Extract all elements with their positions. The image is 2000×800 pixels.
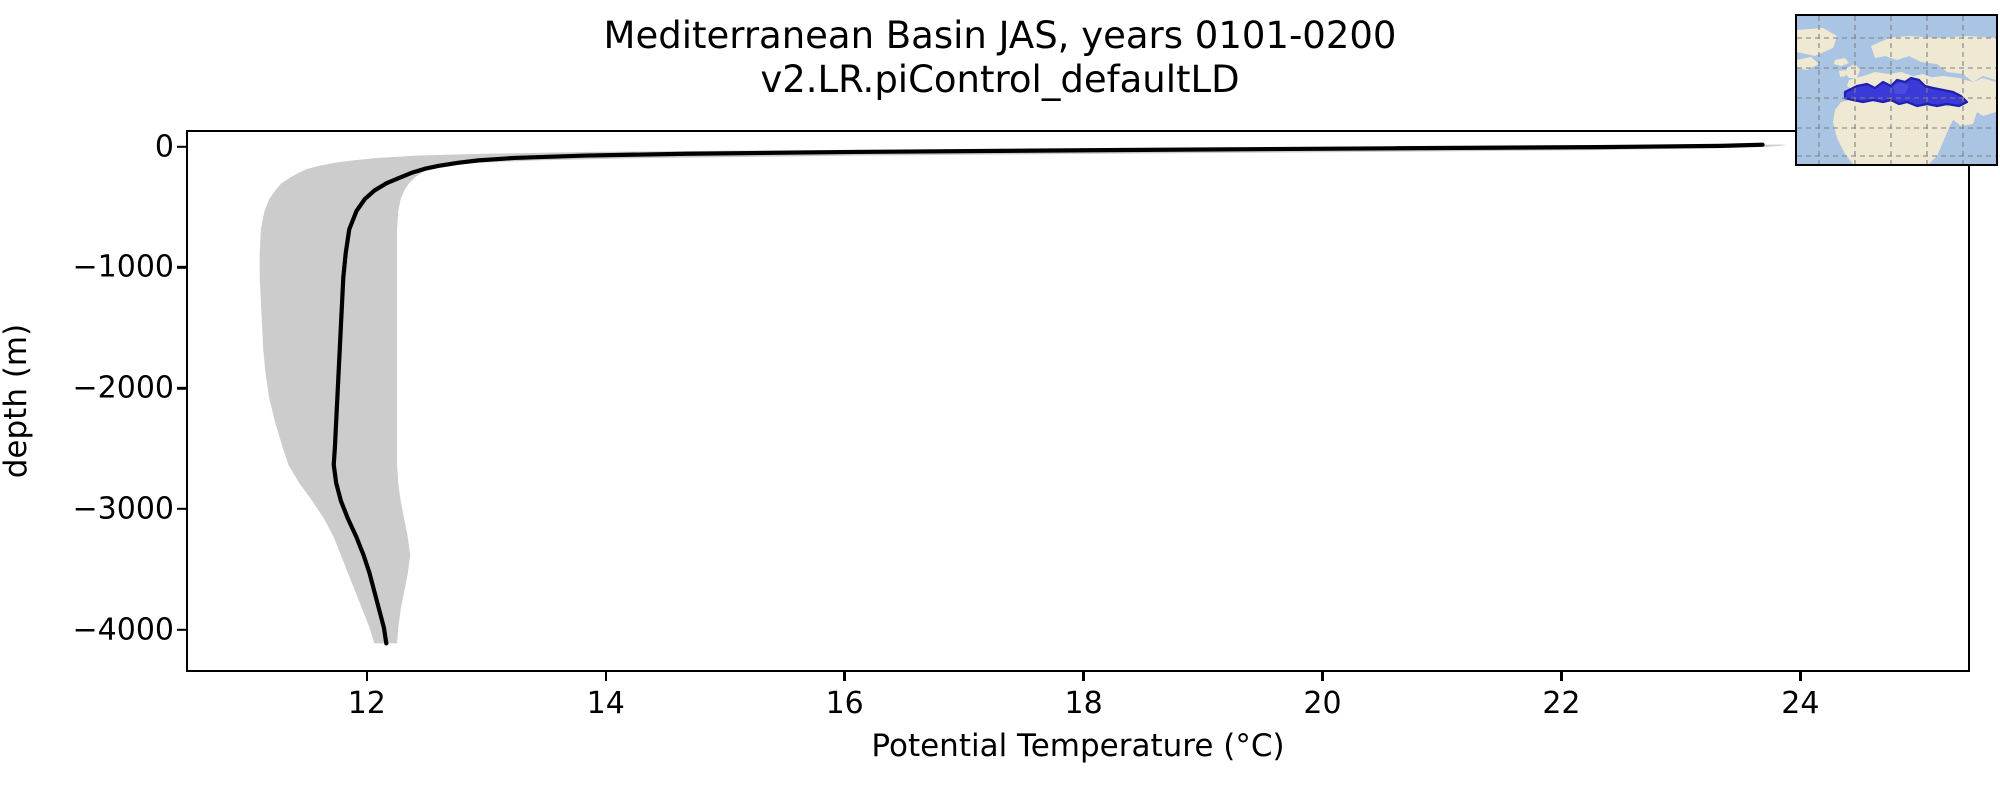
x-tick-mark: [843, 670, 845, 681]
inset-map-svg: [1797, 16, 1996, 164]
x-tick-label: 16: [826, 686, 864, 721]
mean-temperature-line: [334, 145, 1763, 644]
chart-title: Mediterranean Basin JAS, years 0101-0200…: [0, 14, 2000, 101]
plot-area: 0−1000−2000−3000−4000 12141618202224: [186, 130, 1970, 672]
mediterranean-region-inset-map: [1795, 14, 1998, 166]
y-tick-label: −4000: [73, 612, 188, 647]
y-tick-label: −1000: [73, 250, 188, 285]
y-tick-label: 0: [155, 129, 188, 164]
x-tick-label: 14: [587, 686, 625, 721]
x-tick-mark: [1560, 670, 1562, 681]
x-tick-label: 22: [1542, 686, 1580, 721]
x-tick-mark: [366, 670, 368, 681]
x-tick-label: 18: [1064, 686, 1102, 721]
y-axis-label: depth (m): [0, 324, 34, 478]
x-tick-mark: [1321, 670, 1323, 681]
profile-plot-svg: [188, 132, 1968, 670]
x-tick-mark: [605, 670, 607, 681]
x-axis-label: Potential Temperature (°C): [186, 728, 1970, 764]
oceanographic-profile-figure: Mediterranean Basin JAS, years 0101-0200…: [0, 0, 2000, 800]
plot-clip-region: [188, 132, 1968, 670]
chart-title-line-1: Mediterranean Basin JAS, years 0101-0200: [0, 14, 2000, 58]
x-tick-label: 12: [348, 686, 386, 721]
std-dev-band: [260, 145, 1787, 644]
x-tick-mark: [1082, 670, 1084, 681]
y-tick-label: −3000: [73, 491, 188, 526]
x-tick-label: 24: [1781, 686, 1819, 721]
chart-title-line-2: v2.LR.piControl_defaultLD: [0, 58, 2000, 102]
x-tick-mark: [1799, 670, 1801, 681]
x-tick-label: 20: [1303, 686, 1341, 721]
y-tick-label: −2000: [73, 371, 188, 406]
